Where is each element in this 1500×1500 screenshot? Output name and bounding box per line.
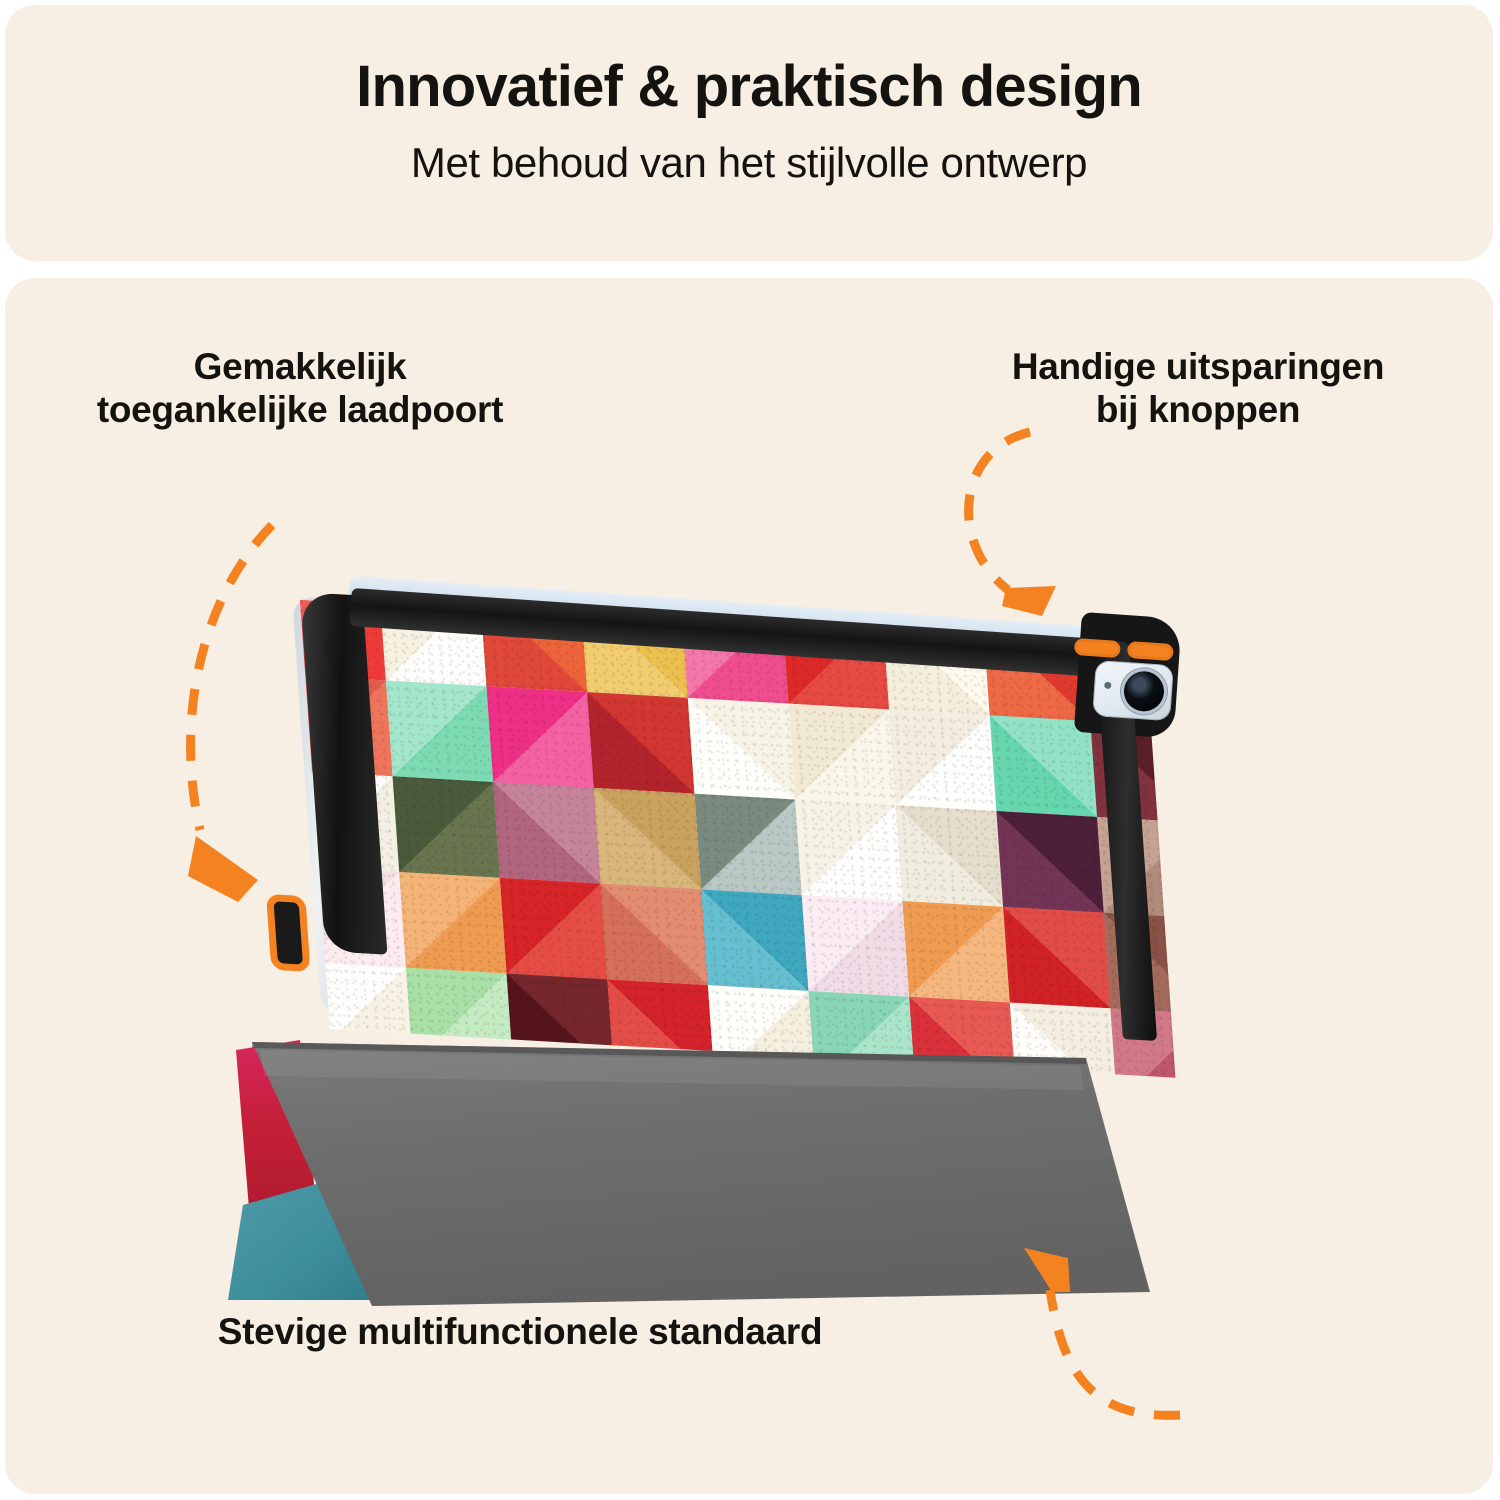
arrow-button-cutouts [969,432,1030,590]
infographic-page: Innovatief & praktisch design Met behoud… [0,0,1500,1500]
arrow-button-cutouts-head [1002,586,1056,616]
arrow-charging-port-head [188,836,258,902]
annotation-arrows [0,0,1500,1500]
arrow-charging-port [191,525,272,830]
arrow-stand-head [1024,1248,1070,1292]
arrow-stand [1050,1290,1180,1415]
